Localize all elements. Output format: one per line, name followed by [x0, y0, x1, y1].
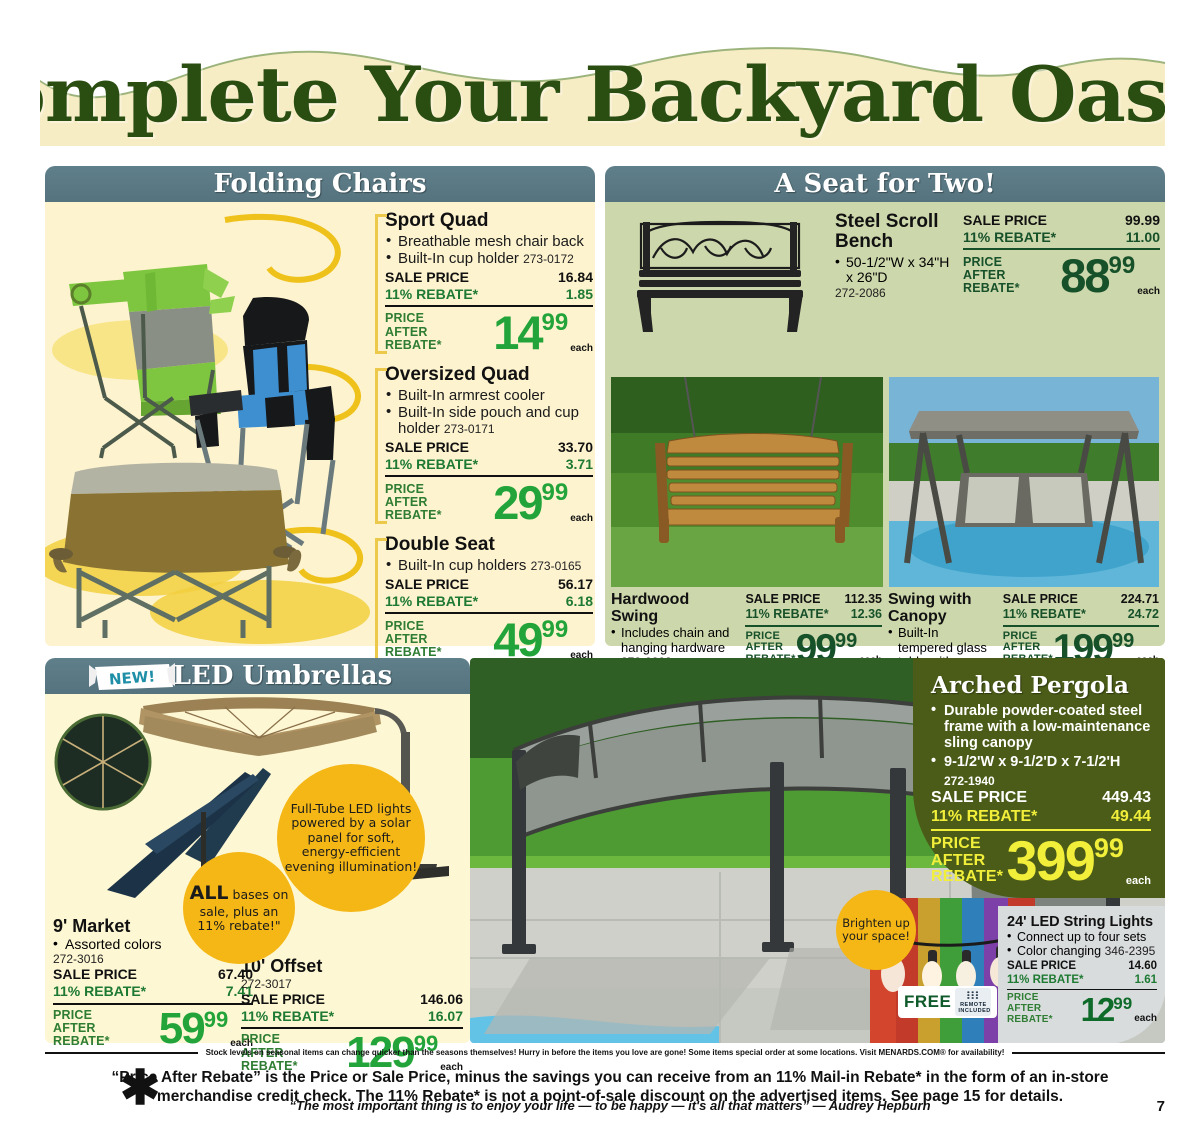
final-price: 14 99 each [493, 309, 593, 356]
rebate-label: 11% REBATE* [931, 807, 1037, 827]
each-label: each [570, 514, 593, 524]
product-name: 10' Offset [241, 956, 463, 977]
sale-price-label: SALE PRICE [1007, 959, 1076, 973]
bullet: 9-1/2'W x 9-1/2'D x 7-1/2'H [931, 755, 1151, 771]
sale-price-row: SALE PRICE 449.43 [931, 788, 1151, 808]
rebate-label: 11% REBATE* [385, 456, 478, 473]
rebate-row: 11% REBATE* 24.72 [1003, 607, 1159, 622]
product-bullets: Durable powder-coated steel frame with a… [931, 704, 1151, 771]
sale-price-value: 112.35 [844, 592, 882, 607]
product-name: Swing with Canopy [888, 592, 997, 625]
rebate-row: 11% REBATE* 16.07 [241, 1008, 463, 1025]
bullet: 50-1/2"W x 34"H x 26"D [835, 255, 955, 286]
rebate-row: 11% REBATE* 6.18 [385, 593, 593, 610]
sale-price-row: SALE PRICE 224.71 [1003, 592, 1159, 607]
rebate-row: 11% REBATE* 1.61 [1007, 973, 1157, 987]
product-name: 24' LED String Lights [1007, 914, 1157, 930]
section-seat-for-two: A Seat for Two! [605, 166, 1165, 646]
product-sku: 273-0171 [444, 422, 495, 436]
sale-price-value: 146.06 [420, 991, 463, 1008]
final-price-dollars: 29 [493, 479, 541, 526]
rebate-value: 1.85 [566, 286, 593, 303]
product-name: Hardwood Swing [611, 592, 739, 625]
price-after-rebate-label: PRICEAFTERREBATE* [53, 1009, 110, 1049]
sale-price-row: SALE PRICE 56.17 [385, 576, 593, 593]
rebate-value: 49.44 [1111, 807, 1151, 827]
sale-price-label: SALE PRICE [53, 966, 137, 983]
sale-price-value: 449.43 [1102, 788, 1151, 808]
rebate-label: 11% REBATE* [53, 983, 146, 1000]
bullet: Built-In cup holder 273-0172 [385, 251, 593, 268]
product-sport-quad[interactable]: Sport Quad Breathable mesh chair back Bu… [375, 210, 593, 356]
bullet: Color changing 346-2395 [1007, 944, 1157, 959]
remote-keypad-icon [958, 990, 988, 1000]
folding-chairs-header: Folding Chairs [45, 166, 595, 202]
product-bullets: Breathable mesh chair back Built-In cup … [385, 234, 593, 268]
each-label: each [1126, 876, 1151, 887]
product-name: Arched Pergola [931, 672, 1151, 699]
final-price-cents: 99 [835, 631, 857, 651]
product-name: Sport Quad [385, 210, 593, 232]
catalog-page: Complete Your Backyard Oasis! Folding Ch… [0, 0, 1200, 1143]
sale-price-label: SALE PRICE [1003, 592, 1078, 607]
product-double-seat[interactable]: Double Seat Built-In cup holders 273-016… [375, 534, 593, 663]
remote-included-icon: REMOTE INCLUDED [955, 988, 991, 1016]
product-bullets: 50-1/2"W x 34"H x 26"D [835, 255, 955, 286]
rebate-value: 24.72 [1128, 607, 1159, 622]
bullet: Connect up to four sets [1007, 930, 1157, 944]
rebate-label: 11% REBATE* [1003, 607, 1086, 622]
final-price-cents: 99 [1094, 835, 1124, 862]
rebate-row: 11% REBATE* 7.41 [53, 983, 253, 1000]
price-after-rebate-row: PRICEAFTERREBATE* 29 99 each [385, 475, 593, 526]
sale-price-row: SALE PRICE 16.84 [385, 269, 593, 286]
final-price-cents: 99 [542, 618, 569, 642]
swing-photo-row [611, 377, 1159, 587]
product-sku: 273-0172 [523, 252, 574, 266]
rebate-row: 11% REBATE* 1.85 [385, 286, 593, 303]
folding-chairs-spec-list: Sport Quad Breathable mesh chair back Bu… [375, 210, 593, 671]
bench-name-block: Steel Scroll Bench 50-1/2"W x 34"H x 26"… [835, 212, 955, 300]
product-oversized-quad[interactable]: Oversized Quad Built-In armrest cooler B… [375, 364, 593, 527]
product-sku: 272-2086 [835, 286, 955, 300]
swing-with-canopy-photo [889, 377, 1159, 587]
bullet: Breathable mesh chair back [385, 234, 593, 251]
price-after-rebate-row: PRICEAFTERREBATE* 88 99 each [963, 248, 1160, 299]
sale-price-value: 99.99 [1125, 212, 1160, 229]
product-bullets: Built-In cup holders 273-0165 [385, 558, 593, 575]
inspirational-quote: “The most important thing is to enjoy yo… [110, 1098, 1110, 1113]
masthead-banner: Complete Your Backyard Oasis! [40, 42, 1165, 146]
rule-left [45, 1052, 198, 1054]
new-ribbon-badge: NEW! [89, 661, 175, 691]
bullet: Built-In cup holders 273-0165 [385, 558, 593, 575]
sale-price-label: SALE PRICE [385, 269, 469, 286]
price-after-rebate-label: PRICEAFTERREBATE* [1007, 993, 1053, 1025]
price-after-rebate-row: PRICEAFTERREBATE* 14 99 each [385, 305, 593, 356]
final-price: 59 99 each [159, 1007, 253, 1051]
section-arched-pergola: Arched Pergola Durable powder-coated ste… [470, 658, 1165, 1043]
sale-price-row: SALE PRICE 14.60 [1007, 959, 1157, 973]
bench-price-block: SALE PRICE 99.99 11% REBATE* 11.00 PRICE… [963, 212, 1160, 300]
sale-price-label: SALE PRICE [931, 788, 1027, 808]
final-price-dollars: 12 [1081, 993, 1114, 1026]
stock-note-rule: Stock levels on seasonal items can chang… [45, 1048, 1165, 1057]
final-price-cents: 99 [542, 311, 569, 335]
price-after-rebate-label: PRICEAFTERREBATE* [931, 836, 1003, 885]
rule-right [1012, 1052, 1165, 1054]
callout-all-bases: ALL bases on sale, plus an 11% rebate!" [183, 852, 295, 964]
product-sku: 272-1940 [944, 774, 1151, 788]
rebate-label: 11% REBATE* [745, 607, 828, 622]
each-label: each [570, 344, 593, 354]
sale-price-label: SALE PRICE [745, 592, 820, 607]
price-after-rebate-row: PRICEAFTERREBATE* 59 99 each [53, 1003, 253, 1051]
final-price: 399 99 each [1006, 833, 1151, 889]
each-label: each [1134, 1014, 1157, 1024]
folding-chairs-photo [45, 202, 375, 646]
final-price-dollars: 14 [493, 309, 541, 356]
product-bullets: Built-In armrest cooler Built-In side po… [385, 388, 593, 438]
sale-price-value: 33.70 [558, 439, 593, 456]
rebate-label: 11% REBATE* [385, 593, 478, 610]
final-price: 88 99 each [1060, 252, 1160, 299]
free-label: FREE [904, 992, 951, 1012]
sale-price-value: 14.60 [1128, 959, 1157, 973]
product-led-string-lights[interactable]: 24' LED String Lights Connect up to four… [998, 906, 1165, 1043]
pergola-price-panel[interactable]: Arched Pergola Durable powder-coated ste… [913, 658, 1165, 898]
rebate-row: 11% REBATE* 12.36 [745, 607, 882, 622]
rebate-value: 3.71 [566, 456, 593, 473]
section-led-umbrellas: LED Umbrellas NEW! [45, 658, 470, 1043]
sale-price-row: SALE PRICE 67.40 [53, 966, 253, 983]
final-price-cents: 99 [1109, 254, 1136, 278]
page-number: 7 [1157, 1098, 1165, 1115]
bullet-text: Built-In cup holder [398, 250, 519, 267]
each-label: each [1137, 287, 1160, 297]
final-price: 12 99 each [1081, 993, 1157, 1026]
bench-spec-block[interactable]: Steel Scroll Bench 50-1/2"W x 34"H x 26"… [835, 212, 1160, 300]
product-name: Steel Scroll Bench [835, 212, 955, 252]
rebate-value: 1.61 [1135, 973, 1157, 987]
sale-price-label: SALE PRICE [385, 576, 469, 593]
product-sku: 346-2395 [1105, 944, 1156, 958]
steel-scroll-bench-photo [613, 208, 828, 338]
final-price-cents: 99 [1112, 631, 1134, 651]
callout-bases-big: ALL [190, 882, 229, 904]
bullet-text: Includes chain and hanging hardware [621, 625, 729, 654]
masthead-title: Complete Your Backyard Oasis! [40, 42, 1165, 146]
product-name: Double Seat [385, 534, 593, 556]
rebate-value: 12.36 [851, 607, 882, 622]
sale-price-row: SALE PRICE 99.99 [963, 212, 1160, 229]
seat-for-two-header: A Seat for Two! [605, 166, 1165, 202]
final-price-dollars: 49 [493, 616, 541, 663]
sale-price-row: SALE PRICE 146.06 [241, 991, 463, 1008]
final-price-cents: 99 [1113, 995, 1132, 1012]
final-price: 29 99 each [493, 479, 593, 526]
sale-price-label: SALE PRICE [963, 212, 1047, 229]
product-sku: 273-0165 [531, 559, 582, 573]
final-price-cents: 99 [542, 481, 569, 505]
final-price-dollars: 399 [1006, 833, 1093, 889]
price-after-rebate-row: PRICEAFTERREBATE* 399 99 each [931, 829, 1151, 889]
led-umbrellas-header-text: LED Umbrellas [173, 661, 393, 691]
rebate-label: 11% REBATE* [1007, 973, 1083, 987]
bullet: Built-In side pouch and cup holder 273-0… [385, 405, 593, 439]
sale-price-label: SALE PRICE [241, 991, 325, 1008]
final-price-dollars: 59 [159, 1007, 204, 1051]
rebate-row: 11% REBATE* 11.00 [963, 229, 1160, 246]
rebate-value: 11.00 [1126, 229, 1160, 246]
price-after-rebate-label: PRICEAFTERREBATE* [963, 256, 1020, 296]
remote-included-label: REMOTE INCLUDED [958, 1003, 988, 1015]
rebate-label: 11% REBATE* [963, 229, 1056, 246]
bullet-text: Built-In cup holders [398, 557, 526, 574]
rebate-row: 11% REBATE* 49.44 [931, 807, 1151, 827]
callout-brighten-up-space: Brighten up your space! [836, 890, 916, 970]
price-after-rebate-row: PRICEAFTERREBATE* 12 99 each [1007, 989, 1157, 1027]
final-price-dollars: 88 [1060, 252, 1108, 299]
product-name: Oversized Quad [385, 364, 593, 386]
sale-price-label: SALE PRICE [385, 439, 469, 456]
rebate-label: 11% REBATE* [241, 1008, 334, 1025]
final-price-cents: 99 [204, 1009, 228, 1031]
price-after-rebate-row: PRICEAFTERREBATE* 49 99 each [385, 612, 593, 663]
section-folding-chairs: Folding Chairs [45, 166, 595, 646]
price-after-rebate-label: PRICEAFTERREBATE* [385, 483, 442, 523]
sale-price-value: 56.17 [558, 576, 593, 593]
sale-price-row: SALE PRICE 112.35 [745, 592, 882, 607]
rebate-label: 11% REBATE* [385, 286, 478, 303]
hardwood-swing-photo [611, 377, 883, 587]
new-badge-text: NEW! [108, 667, 155, 688]
stock-note-text: Stock levels on seasonal items can chang… [206, 1048, 1005, 1057]
product-sku: 272-3017 [241, 977, 463, 991]
rebate-value: 16.07 [428, 1008, 463, 1025]
sale-price-value: 16.84 [558, 269, 593, 286]
bullet: Durable powder-coated steel frame with a… [931, 704, 1151, 752]
bullet-text: Color changing [1017, 944, 1101, 958]
product-bullets: Connect up to four sets Color changing 3… [1007, 930, 1157, 959]
bullet: Built-In armrest cooler [385, 388, 593, 405]
free-remote-badge: FREE REMOTE INCLUDED [898, 986, 997, 1018]
sale-price-value: 224.71 [1121, 592, 1159, 607]
callout-led-lights: Full-Tube LED lights powered by a solar … [277, 764, 425, 912]
price-after-rebate-label: PRICEAFTERREBATE* [385, 620, 442, 660]
price-after-rebate-label: PRICEAFTERREBATE* [385, 312, 442, 352]
rebate-value: 6.18 [566, 593, 593, 610]
sale-price-row: SALE PRICE 33.70 [385, 439, 593, 456]
product-10ft-offset-umbrella[interactable]: 10' Offset 272-3017 SALE PRICE 146.06 11… [241, 956, 463, 1075]
final-price: 49 99 each [493, 616, 593, 663]
rebate-row: 11% REBATE* 3.71 [385, 456, 593, 473]
